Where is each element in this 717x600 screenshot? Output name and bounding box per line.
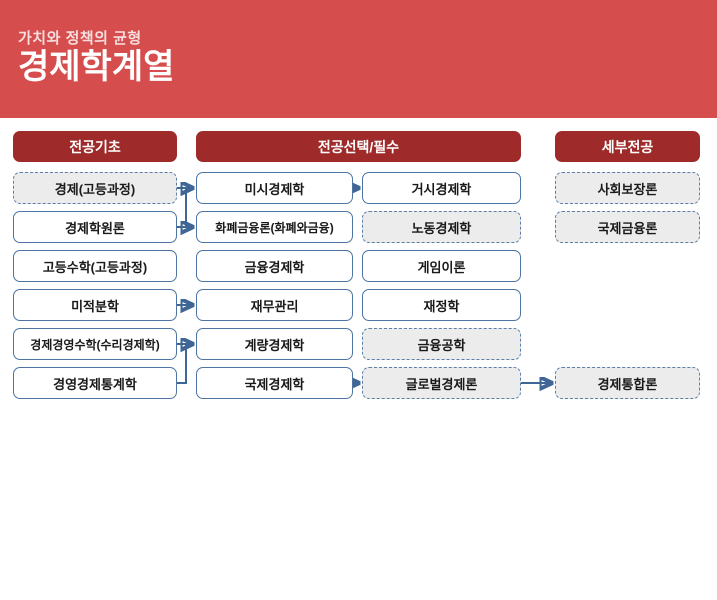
node-highschool-math[interactable]: 고등수학(고등과정) xyxy=(13,250,177,282)
node-financial-economics[interactable]: 금융경제학 xyxy=(196,250,353,282)
node-econometrics[interactable]: 계량경제학 xyxy=(196,328,353,360)
node-game-theory[interactable]: 게임이론 xyxy=(362,250,521,282)
node-economics-highschool[interactable]: 경제(고등과정) xyxy=(13,172,177,204)
node-macroeconomics[interactable]: 거시경제학 xyxy=(362,172,521,204)
node-financial-management[interactable]: 재무관리 xyxy=(196,289,353,321)
node-calculus[interactable]: 미적분학 xyxy=(13,289,177,321)
node-principles-of-economics[interactable]: 경제학원론 xyxy=(13,211,177,243)
node-microeconomics[interactable]: 미시경제학 xyxy=(196,172,353,204)
node-labor-economics[interactable]: 노동경제학 xyxy=(362,211,521,243)
node-monetary-finance-theory[interactable]: 화폐금융론(화폐와금융) xyxy=(196,211,353,243)
node-social-security-theory[interactable]: 사회보장론 xyxy=(555,172,700,204)
curriculum-diagram: 가치와 정책의 균형 경제학계열 전공기초 전공선택/필수 세부전공 경제(고등… xyxy=(0,0,717,600)
node-public-finance[interactable]: 재정학 xyxy=(362,289,521,321)
node-global-economy-theory[interactable]: 글로벌경제론 xyxy=(362,367,521,399)
node-financial-engineering[interactable]: 금융공학 xyxy=(362,328,521,360)
node-international-finance-theory[interactable]: 국제금융론 xyxy=(555,211,700,243)
node-international-economics[interactable]: 국제경제학 xyxy=(196,367,353,399)
node-economic-integration-theory[interactable]: 경제통합론 xyxy=(555,367,700,399)
node-business-economics-statistics[interactable]: 경영경제통계학 xyxy=(13,367,177,399)
node-mathematical-economics[interactable]: 경제경영수학(수리경제학) xyxy=(13,328,177,360)
